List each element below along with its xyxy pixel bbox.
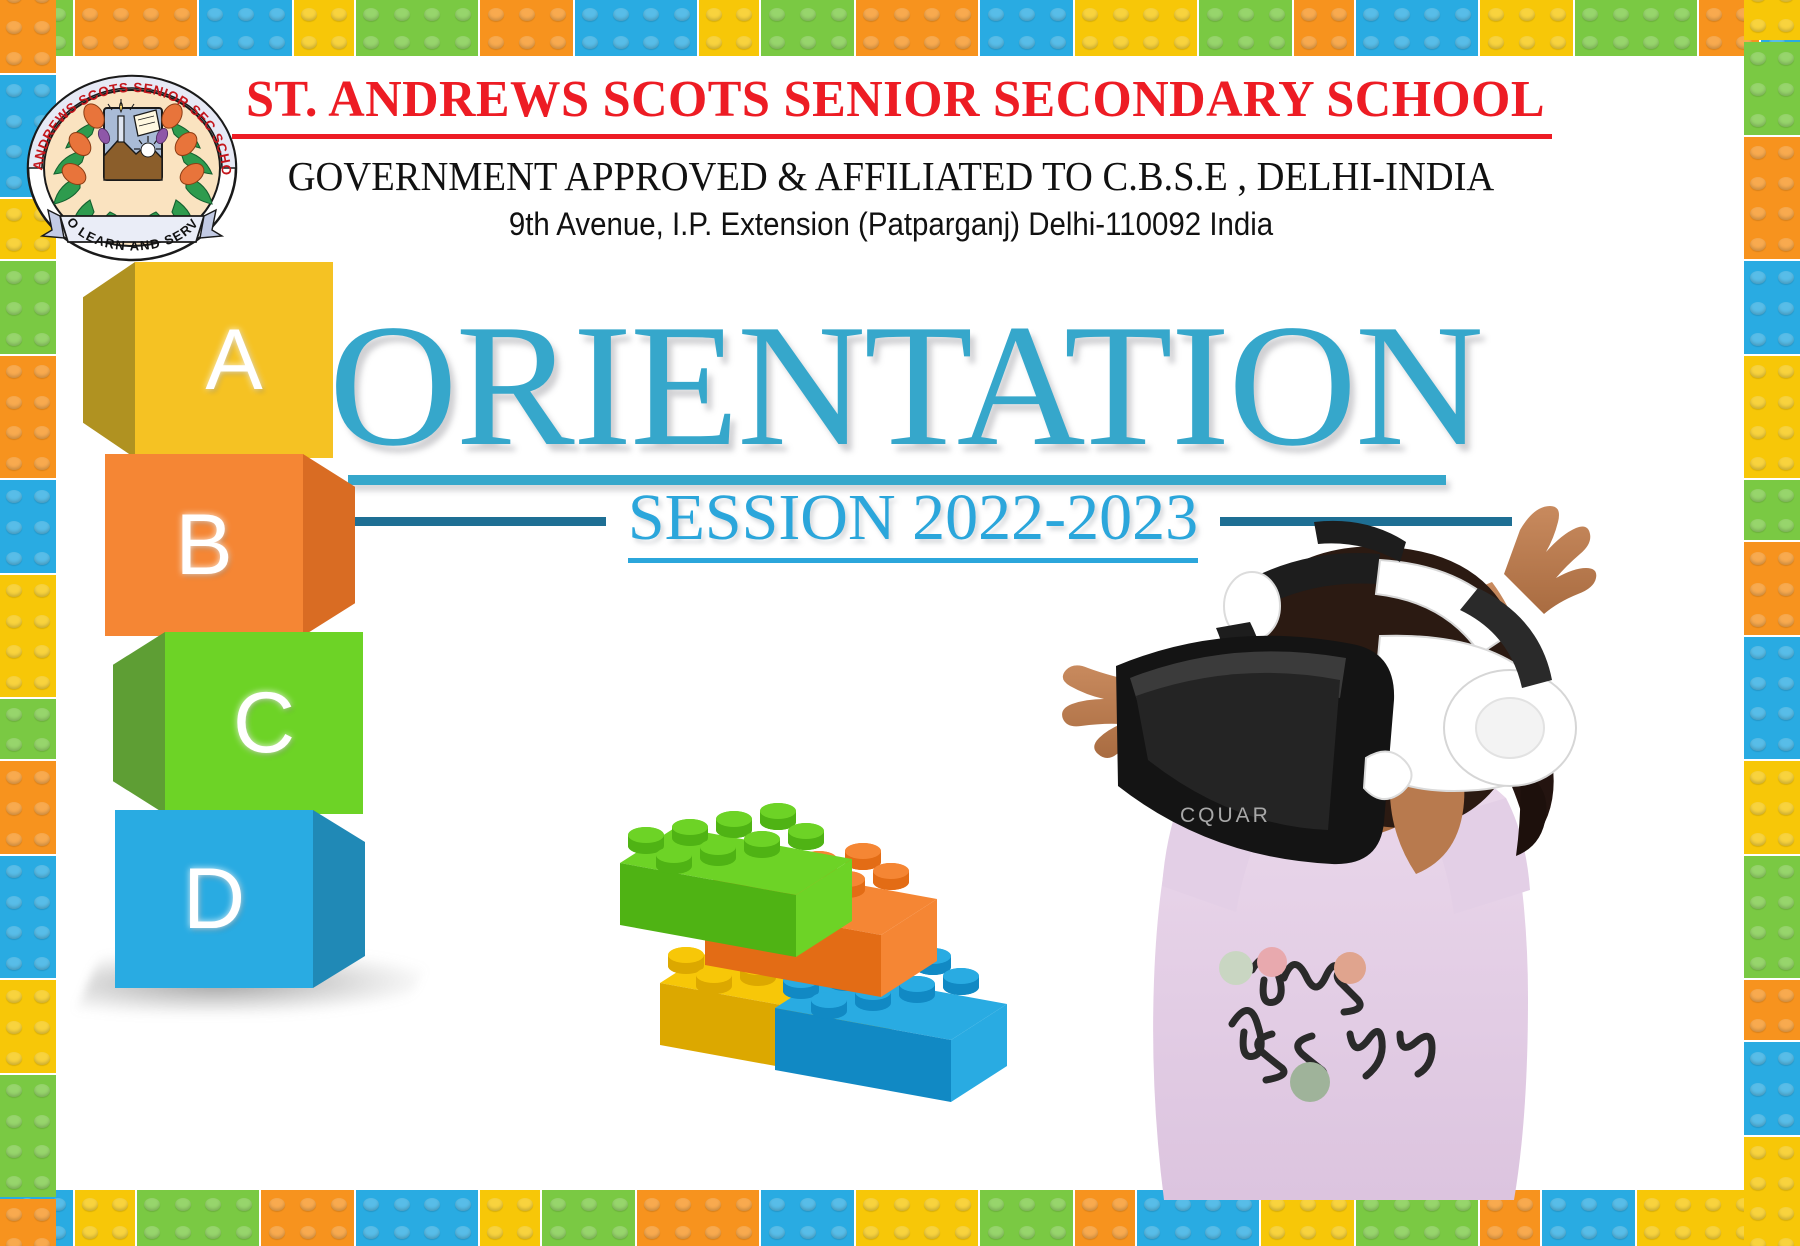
- lego-stud-icon: [1174, 8, 1190, 21]
- lego-stud-icon: [6, 584, 22, 597]
- school-crest-logo: ST. ANDREWS SCOTS SENIOR SEC SCHOOL: [8, 64, 256, 264]
- affiliation-line: GOVERNMENT APPROVED & AFFILIATED TO C.B.…: [266, 152, 1516, 200]
- lego-border-brick: [1744, 542, 1800, 635]
- lego-stud-icon: [675, 1198, 691, 1211]
- lego-stud-icon: [769, 8, 785, 21]
- lego-stud-icon: [1750, 677, 1766, 690]
- lego-border-brick: [0, 261, 56, 354]
- lego-stud-icon: [424, 36, 440, 49]
- lego-stud-icon: [643, 36, 659, 49]
- lego-stud-icon: [644, 1198, 660, 1211]
- lego-stud-icon: [34, 615, 50, 628]
- lego-border-brick: [1199, 0, 1292, 56]
- lego-stud-icon: [34, 833, 50, 846]
- lego-stud-icon: [1019, 36, 1035, 49]
- block-b-side: [303, 454, 355, 636]
- lego-stud-icon: [1301, 36, 1317, 49]
- lego-stud-icon: [1750, 833, 1766, 846]
- lego-stud-icon: [1778, 271, 1794, 284]
- lego-stud-icon: [1750, 52, 1766, 65]
- lego-stud-icon: [1269, 8, 1285, 21]
- lego-stud-icon: [894, 1226, 910, 1239]
- lego-stud-icon: [1644, 1226, 1660, 1239]
- lego-stud-icon: [1778, 865, 1794, 878]
- lego-stud-icon: [1778, 707, 1794, 720]
- lego-border-brick: [1480, 0, 1573, 56]
- block-d-letter: D: [115, 810, 313, 988]
- lego-stud-icon: [34, 990, 50, 1003]
- lego-stud-icon: [519, 36, 535, 49]
- lego-border-brick: [0, 761, 56, 854]
- lego-stud-icon: [143, 8, 159, 21]
- lego-stud-icon: [1331, 1226, 1347, 1239]
- lego-stud-icon: [1519, 8, 1535, 21]
- lego-stud-icon: [1778, 1114, 1794, 1127]
- lego-stud-icon: [6, 708, 22, 721]
- lego-stud-icon: [6, 21, 22, 34]
- lego-stud-icon: [34, 271, 50, 284]
- lego-stud-icon: [1207, 36, 1223, 49]
- lego-stud-icon: [6, 676, 22, 689]
- lego-stud-icon: [613, 8, 629, 21]
- flower-applique-2: [1257, 947, 1287, 977]
- lego-stud-icon: [1019, 1226, 1035, 1239]
- lego-stud-icon: [34, 490, 50, 503]
- lego-stud-icon: [1455, 36, 1471, 49]
- lego-stud-icon: [6, 990, 22, 1003]
- lego-stud-icon: [1778, 1207, 1794, 1220]
- lego-stud-icon: [6, 645, 22, 658]
- lego-stud-icon: [1778, 1052, 1794, 1065]
- lego-stud-icon: [1778, 19, 1794, 32]
- lego-stud-icon: [955, 36, 971, 49]
- lego-stud-icon: [207, 36, 223, 49]
- event-title-block: ORIENTATION: [340, 300, 1460, 472]
- lego-stud-icon: [1487, 1226, 1503, 1239]
- lego-stud-icon: [174, 36, 190, 49]
- lego-stud-icon: [6, 333, 22, 346]
- lego-stud-icon: [831, 8, 847, 21]
- lego-stud-icon: [6, 302, 22, 315]
- lego-border-brick: [699, 0, 759, 56]
- lego-stud-icon: [736, 8, 752, 21]
- lego-stud-icon: [988, 1226, 1004, 1239]
- lego-stud-icon: [988, 36, 1004, 49]
- lego-stud-icon: [1750, 177, 1766, 190]
- lego-stud-icon: [924, 1226, 940, 1239]
- lego-stud-icon: [1705, 1198, 1721, 1211]
- block-a-side: [83, 262, 135, 458]
- lego-stud-icon: [1550, 1226, 1566, 1239]
- lego-stud-icon: [1363, 36, 1379, 49]
- lego-stud-icon: [6, 1052, 22, 1065]
- lego-border-brick: [1744, 480, 1800, 540]
- flower-applique-4: [1290, 1062, 1330, 1102]
- lego-stud-icon: [1112, 1226, 1128, 1239]
- lego-border-brick: [575, 0, 697, 56]
- lego-stud-icon: [581, 1226, 597, 1239]
- lego-stud-icon: [706, 8, 722, 21]
- lego-border-brick: [480, 0, 573, 56]
- lego-stud-icon: [1455, 8, 1471, 21]
- block-b-letter: B: [105, 454, 303, 636]
- lego-stud-icon: [517, 1226, 533, 1239]
- lego-stud-icon: [34, 396, 50, 409]
- lego-stud-icon: [6, 615, 22, 628]
- lego-stud-icon: [1778, 396, 1794, 409]
- lego-stud-icon: [769, 1198, 785, 1211]
- lego-stud-icon: [1331, 8, 1347, 21]
- lego-stud-icon: [236, 1226, 252, 1239]
- lego-stud-icon: [82, 1226, 98, 1239]
- lego-stud-icon: [34, 457, 50, 470]
- lego-stud-icon: [6, 771, 22, 784]
- lego-stud-icon: [34, 771, 50, 784]
- lego-stud-icon: [1750, 552, 1766, 565]
- lego-stud-icon: [394, 8, 410, 21]
- lego-stud-icon: [236, 1198, 252, 1211]
- lego-stud-icon: [988, 8, 1004, 21]
- lego-stud-icon: [6, 1208, 22, 1221]
- lego-stud-icon: [6, 1176, 22, 1189]
- lego-stud-icon: [1778, 426, 1794, 439]
- lego-stud-icon: [6, 926, 22, 939]
- lego-stud-icon: [34, 802, 50, 815]
- lego-border-brick: [294, 0, 354, 56]
- lego-brick-green: [620, 775, 920, 945]
- lego-border-brick: [1575, 0, 1697, 56]
- lego-stud-icon: [1331, 36, 1347, 49]
- lego-stud-icon: [1424, 36, 1440, 49]
- lego-stud-icon: [300, 1198, 316, 1211]
- lego-stud-icon: [736, 1226, 752, 1239]
- lego-stud-icon: [34, 676, 50, 689]
- lego-stud-icon: [769, 1226, 785, 1239]
- lego-border-brick: [0, 480, 56, 573]
- alphabet-block-d: D: [115, 810, 313, 988]
- lego-stud-icon: [800, 8, 816, 21]
- lego-stud-icon: [331, 1226, 347, 1239]
- lego-stud-icon: [1238, 8, 1254, 21]
- lego-stud-icon: [175, 1226, 191, 1239]
- lego-border-brick: [1744, 980, 1800, 1040]
- lego-stud-icon: [800, 36, 816, 49]
- lego-stud-icon: [301, 36, 317, 49]
- lego-stud-icon: [1675, 1226, 1691, 1239]
- lego-stud-icon: [1778, 114, 1794, 127]
- lego-stud-icon: [550, 1226, 566, 1239]
- lego-stud-icon: [301, 8, 317, 21]
- lego-stud-icon: [34, 1176, 50, 1189]
- lego-border-top: [0, 0, 1800, 56]
- lego-stud-icon: [34, 896, 50, 909]
- lego-stud-icon: [1778, 896, 1794, 909]
- lego-stud-icon: [269, 36, 285, 49]
- lego-stud-icon: [582, 36, 598, 49]
- lego-stud-icon: [487, 1226, 503, 1239]
- lego-stud-icon: [6, 957, 22, 970]
- lego-stud-icon: [1269, 36, 1285, 49]
- lego-stud-icon: [238, 36, 254, 49]
- lego-stud-icon: [1778, 677, 1794, 690]
- lego-border-brick: [1294, 0, 1354, 56]
- lego-stud-icon: [1778, 771, 1794, 784]
- lego-stud-icon: [1750, 19, 1766, 32]
- lego-stud-icon: [517, 1198, 533, 1211]
- lego-stud-icon: [143, 36, 159, 49]
- alphabet-block-b: B: [105, 454, 303, 636]
- lego-stud-icon: [34, 1052, 50, 1065]
- lego-border-right: [1744, 0, 1800, 1246]
- lego-stud-icon: [1750, 83, 1766, 96]
- lego-stud-icon: [1488, 36, 1504, 49]
- lego-stud-icon: [894, 36, 910, 49]
- lego-border-brick: [1744, 761, 1800, 854]
- lego-stud-icon: [863, 8, 879, 21]
- lego-stud-icon: [34, 926, 50, 939]
- lego-stud-icon: [1778, 989, 1794, 1002]
- lego-stud-icon: [1750, 114, 1766, 127]
- lego-border-brick: [1744, 261, 1800, 354]
- lego-stud-icon: [1612, 1226, 1628, 1239]
- lego-border-brick: [761, 1190, 854, 1246]
- lego-stud-icon: [706, 36, 722, 49]
- lego-stud-icon: [1778, 1177, 1794, 1190]
- lego-stud-icon: [1750, 1114, 1766, 1127]
- lego-border-brick: [1075, 0, 1197, 56]
- lego-stud-icon: [34, 1238, 50, 1246]
- lego-stud-icon: [1050, 36, 1066, 49]
- headset-brand-text: CQUAR: [1180, 804, 1271, 827]
- lego-stud-icon: [34, 865, 50, 878]
- lego-border-brick: [637, 1190, 759, 1246]
- lego-stud-icon: [1113, 36, 1129, 49]
- lego-stud-icon: [1750, 707, 1766, 720]
- lego-border-brick: [0, 1075, 56, 1197]
- lego-stud-icon: [863, 36, 879, 49]
- right-hand: [1504, 506, 1596, 614]
- lego-stud-icon: [1778, 365, 1794, 378]
- lego-border-brick: [1744, 637, 1800, 759]
- lego-stud-icon: [1750, 926, 1766, 939]
- lego-stud-icon: [1750, 646, 1766, 659]
- lego-stud-icon: [1778, 177, 1794, 190]
- lego-stud-icon: [894, 8, 910, 21]
- block-c-side: [113, 632, 165, 814]
- lego-stud-icon: [1050, 1226, 1066, 1239]
- lego-stud-icon: [1778, 833, 1794, 846]
- lego-stud-icon: [34, 1021, 50, 1034]
- lego-stud-icon: [455, 36, 471, 49]
- lego-stud-icon: [6, 0, 22, 3]
- lego-stud-icon: [424, 1198, 440, 1211]
- lego-border-brick: [356, 1190, 478, 1246]
- lego-border-brick: [75, 1190, 135, 1246]
- lego-border-brick: [199, 0, 292, 56]
- lego-stud-icon: [1581, 1226, 1597, 1239]
- lego-stud-icon: [1019, 8, 1035, 21]
- flower-applique-1: [1219, 951, 1253, 985]
- lego-border-brick: [1744, 856, 1800, 978]
- lego-stud-icon: [831, 1198, 847, 1211]
- lego-border-brick: [261, 1190, 354, 1246]
- lego-stud-icon: [1750, 271, 1766, 284]
- lego-stud-icon: [1550, 36, 1566, 49]
- lego-stud-icon: [769, 36, 785, 49]
- lego-border-brick: [0, 0, 56, 73]
- lego-stud-icon: [331, 1198, 347, 1211]
- lego-stud-icon: [705, 1198, 721, 1211]
- lego-stud-icon: [674, 36, 690, 49]
- lego-stud-icon: [6, 1115, 22, 1128]
- lego-stud-icon: [736, 1198, 752, 1211]
- lego-stud-icon: [1643, 8, 1659, 21]
- lego-stud-icon: [144, 1198, 160, 1211]
- lego-stud-icon: [300, 1226, 316, 1239]
- lego-stud-icon: [1113, 8, 1129, 21]
- lego-stud-icon: [34, 738, 50, 751]
- lego-stud-icon: [34, 333, 50, 346]
- lego-stud-icon: [363, 1226, 379, 1239]
- event-title: ORIENTATION: [329, 300, 1471, 472]
- lego-border-brick: [0, 980, 56, 1073]
- lego-stud-icon: [1778, 52, 1794, 65]
- lego-border-brick: [761, 0, 854, 56]
- lego-border-brick: [1744, 1137, 1800, 1246]
- lego-stud-icon: [550, 8, 566, 21]
- lego-border-brick: [856, 0, 978, 56]
- lego-stud-icon: [6, 457, 22, 470]
- lego-stud-icon: [1778, 457, 1794, 470]
- lego-stud-icon: [1082, 36, 1098, 49]
- lego-stud-icon: [34, 552, 50, 565]
- lego-stud-icon: [1750, 396, 1766, 409]
- lego-stud-icon: [1750, 489, 1766, 502]
- lego-stud-icon: [1778, 302, 1794, 315]
- lego-stud-icon: [34, 584, 50, 597]
- block-c-letter: C: [165, 632, 363, 814]
- lego-stud-icon: [612, 1198, 628, 1211]
- lego-stud-icon: [1750, 957, 1766, 970]
- lego-stud-icon: [394, 36, 410, 49]
- lego-stud-icon: [831, 1226, 847, 1239]
- lego-stud-icon: [34, 1084, 50, 1097]
- lego-stud-icon: [1706, 8, 1722, 21]
- school-name: ST. ANDREWS SCOTS SENIOR SECONDARY SCHOO…: [246, 70, 1536, 129]
- lego-stud-icon: [582, 8, 598, 21]
- lego-stud-icon: [6, 552, 22, 565]
- lego-stud-icon: [1778, 802, 1794, 815]
- lego-stud-icon: [82, 8, 98, 21]
- lego-border-brick: [137, 1190, 259, 1246]
- lego-stud-icon: [6, 1145, 22, 1158]
- lego-stud-icon: [1082, 8, 1098, 21]
- lego-stud-icon: [1613, 36, 1629, 49]
- lego-stud-icon: [331, 36, 347, 49]
- lego-stud-icon: [1778, 614, 1794, 627]
- lego-stud-icon: [34, 1208, 50, 1221]
- lego-stud-icon: [1778, 1146, 1794, 1159]
- lego-stud-icon: [1778, 489, 1794, 502]
- lego-stud-icon: [800, 1198, 816, 1211]
- lego-stud-icon: [1175, 1226, 1191, 1239]
- lego-stud-icon: [1207, 8, 1223, 21]
- lego-stud-icon: [174, 8, 190, 21]
- lego-stud-icon: [1488, 8, 1504, 21]
- lego-stud-icon: [1424, 1226, 1440, 1239]
- lego-stud-icon: [363, 1198, 379, 1211]
- alphabet-block-a: A: [135, 262, 333, 458]
- lego-stud-icon: [1750, 457, 1766, 470]
- lego-border-brick: [0, 699, 56, 759]
- lego-stud-icon: [1394, 36, 1410, 49]
- lego-stud-icon: [1143, 8, 1159, 21]
- lego-stud-icon: [1750, 207, 1766, 220]
- lego-stud-icon: [6, 365, 22, 378]
- lego-stud-icon: [6, 738, 22, 751]
- lego-stud-icon: [175, 1198, 191, 1211]
- lego-stud-icon: [488, 8, 504, 21]
- lego-border-brick: [356, 0, 478, 56]
- lego-stud-icon: [6, 896, 22, 909]
- lego-stud-icon: [34, 21, 50, 34]
- lego-stud-icon: [1582, 8, 1598, 21]
- lego-stud-icon: [1750, 1052, 1766, 1065]
- lego-stud-icon: [1778, 519, 1794, 532]
- lego-stud-icon: [424, 1226, 440, 1239]
- flower-applique-3: [1334, 952, 1366, 984]
- lego-stud-icon: [1778, 333, 1794, 346]
- lego-border-brick: [480, 1190, 540, 1246]
- lego-stud-icon: [643, 8, 659, 21]
- lego-stud-icon: [6, 865, 22, 878]
- lego-stud-icon: [550, 1198, 566, 1211]
- lego-border-brick: [1744, 42, 1800, 135]
- lego-stud-icon: [705, 1226, 721, 1239]
- lego-stud-icon: [1778, 1019, 1794, 1032]
- lego-stud-icon: [1144, 1226, 1160, 1239]
- lego-stud-icon: [269, 1198, 285, 1211]
- lego-stud-icon: [1706, 36, 1722, 49]
- lego-stud-icon: [1778, 1083, 1794, 1096]
- lego-stud-icon: [736, 36, 752, 49]
- lego-border-brick: [1356, 0, 1478, 56]
- lego-stud-icon: [455, 1226, 471, 1239]
- lego-stud-icon: [1082, 1226, 1098, 1239]
- lego-stud-icon: [1750, 865, 1766, 878]
- orientation-poster: ST. ANDREWS SCOTS SENIOR SEC SCHOOL: [0, 0, 1800, 1246]
- lego-stud-icon: [1750, 1207, 1766, 1220]
- lego-stud-icon: [112, 1226, 128, 1239]
- lego-stud-icon: [6, 271, 22, 284]
- lego-stud-icon: [34, 426, 50, 439]
- lego-stud-icon: [581, 1198, 597, 1211]
- lego-stud-icon: [487, 1198, 503, 1211]
- lego-stud-icon: [644, 1226, 660, 1239]
- lego-stud-icon: [1236, 1226, 1252, 1239]
- lego-stud-icon: [1778, 0, 1794, 2]
- lego-stud-icon: [1778, 738, 1794, 751]
- lego-stud-icon: [1750, 1238, 1766, 1246]
- lego-stud-icon: [34, 957, 50, 970]
- lego-stud-icon: [1519, 36, 1535, 49]
- lego-stud-icon: [6, 396, 22, 409]
- lego-stud-icon: [34, 521, 50, 534]
- lego-stud-icon: [1750, 1019, 1766, 1032]
- lego-stud-icon: [612, 1226, 628, 1239]
- lego-stud-icon: [1394, 1226, 1410, 1239]
- lego-stud-icon: [34, 0, 50, 3]
